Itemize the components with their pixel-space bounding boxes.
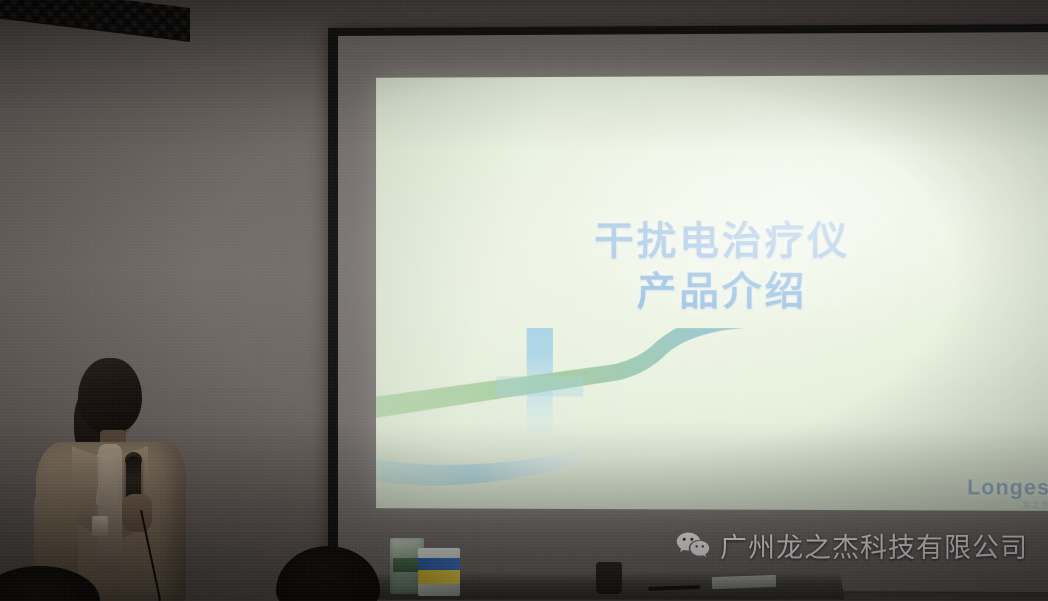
slide-logo-subtext: 龙之杰 xyxy=(1022,500,1048,511)
presenter-hair xyxy=(78,358,142,432)
presenter-hand xyxy=(122,494,152,532)
product-box-blue xyxy=(418,548,460,596)
product-box-green-label xyxy=(393,558,421,572)
cross-swoosh-svg xyxy=(376,328,1048,511)
projection-screen-surface: 干扰电治疗仪 产品介绍 Longes 龙之杰 xyxy=(338,32,1048,592)
watermark: 广州龙之杰科技有限公司 xyxy=(676,526,1028,565)
wechat-icon xyxy=(676,532,710,559)
watermark-text: 广州龙之杰科技有限公司 xyxy=(720,526,1028,565)
product-box-yellow-stripe xyxy=(418,570,460,584)
product-box-blue-stripe xyxy=(418,558,460,570)
cross-horizontal xyxy=(496,376,583,396)
swoosh-band-lower xyxy=(376,442,587,486)
projection-screen-frame: 干扰电治疗仪 产品介绍 Longes 龙之杰 xyxy=(328,24,1048,592)
presenter-badge xyxy=(92,516,108,536)
paper xyxy=(712,575,776,589)
slide-title-line-2: 产品介绍 xyxy=(376,267,1048,318)
photo-scene: 干扰电治疗仪 产品介绍 Longes 龙之杰 xyxy=(0,0,1048,601)
presenter-scarf xyxy=(98,444,122,572)
slide-title: 干扰电治疗仪 产品介绍 xyxy=(376,217,1048,318)
slide-graphic xyxy=(376,328,1048,511)
slide-title-line-1: 干扰电治疗仪 xyxy=(376,217,1048,268)
projected-slide: 干扰电治疗仪 产品介绍 Longes 龙之杰 xyxy=(376,75,1048,511)
cup xyxy=(596,562,622,594)
slide-logo-text: Longes xyxy=(967,476,1048,501)
presenter xyxy=(30,358,230,601)
swoosh-band-upper xyxy=(376,328,943,425)
